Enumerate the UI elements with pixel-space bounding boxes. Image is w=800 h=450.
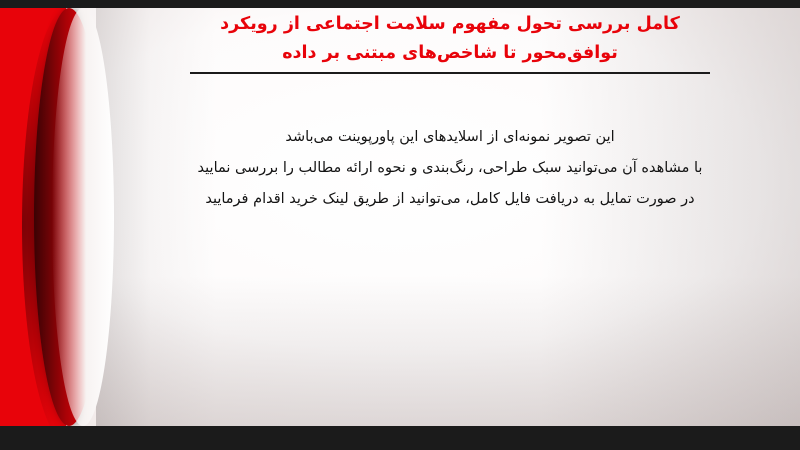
body-line-2: با مشاهده آن می‌توانید سبک طراحی، رنگ‌بن… [120, 153, 780, 184]
title-underline-rule [190, 72, 710, 74]
slide-canvas: کامل بررسی تحول مفهوم سلامت اجتماعی از ر… [0, 0, 800, 450]
slide-title-line-2: توافق‌محور تا شاخص‌های مبتنی بر داده [120, 39, 780, 68]
bottom-black-band [0, 426, 800, 450]
slide-body-text: این تصویر نمونه‌ای از اسلایدهای این پاور… [120, 122, 780, 215]
top-black-band [0, 0, 800, 8]
bottom-shadow-gradient [96, 276, 800, 426]
body-line-1: این تصویر نمونه‌ای از اسلایدهای این پاور… [120, 122, 780, 153]
slide-title-line-1: کامل بررسی تحول مفهوم سلامت اجتماعی از ر… [120, 10, 780, 39]
slide-title: کامل بررسی تحول مفهوم سلامت اجتماعی از ر… [120, 10, 780, 74]
body-line-3: در صورت تمایل به دریافت فایل کامل، می‌تو… [120, 184, 780, 215]
crescent-highlight [52, 8, 114, 426]
